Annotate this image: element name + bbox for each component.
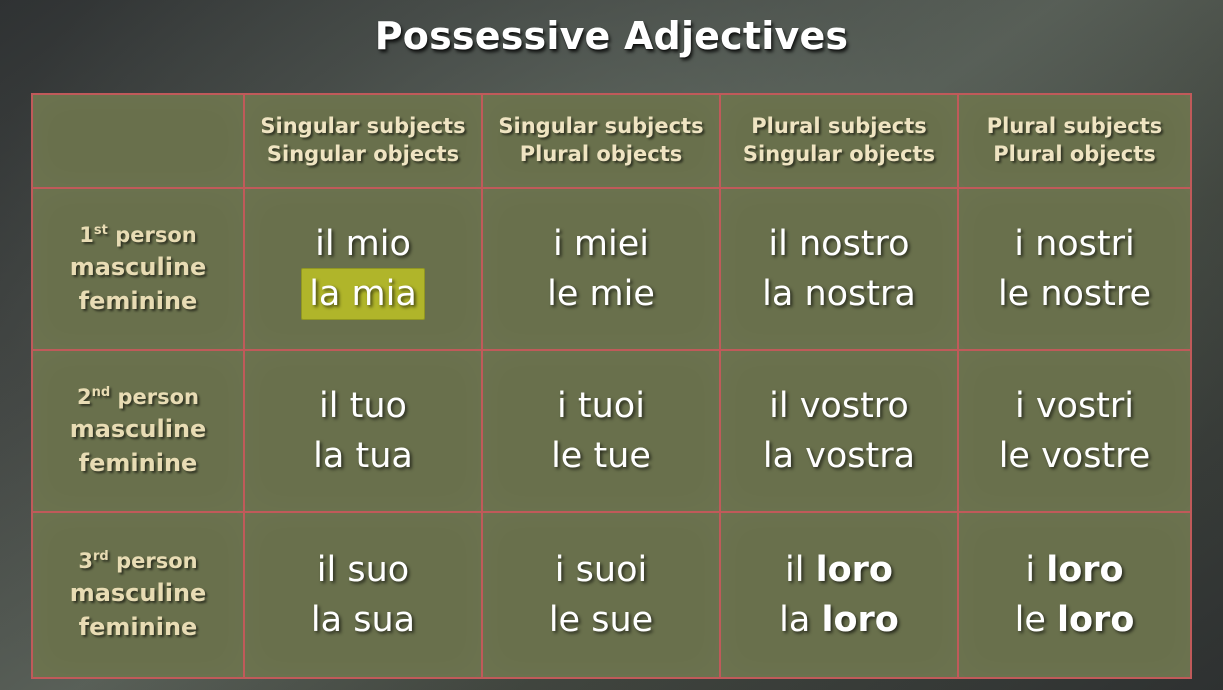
form-feminine-emphasis: loro bbox=[1057, 600, 1134, 640]
form-pair: i tuoile tue bbox=[483, 381, 719, 482]
header-label: Singular subjectsSingular objects bbox=[245, 113, 481, 169]
form-feminine: la loro bbox=[779, 595, 899, 645]
form-cell: il suola sua bbox=[244, 512, 482, 678]
form-masculine: i tuoi bbox=[557, 381, 645, 431]
form-masculine-article: i tuoi bbox=[557, 386, 645, 426]
form-feminine-article: le nostre bbox=[998, 274, 1151, 314]
form-masculine-article: il tuo bbox=[319, 386, 407, 426]
form-masculine: il loro bbox=[785, 545, 893, 595]
form-feminine-article: la bbox=[779, 600, 821, 640]
form-feminine: le tue bbox=[551, 431, 651, 481]
form-feminine: le vostre bbox=[999, 431, 1151, 481]
form-masculine: i miei bbox=[553, 219, 649, 269]
table-row: 3rd personmasculinefeminineil suola suai… bbox=[32, 512, 1191, 678]
table-header-row: Singular subjectsSingular objectsSingula… bbox=[32, 94, 1191, 188]
form-feminine-article: le sue bbox=[549, 600, 653, 640]
header-line-1: Plural subjects bbox=[959, 113, 1190, 141]
header-label: Singular subjectsPlural objects bbox=[483, 113, 719, 169]
person-number: 3 bbox=[78, 549, 93, 573]
gender-label-feminine: feminine bbox=[79, 450, 198, 477]
form-masculine: il suo bbox=[317, 545, 409, 595]
form-masculine-emphasis: loro bbox=[816, 550, 893, 590]
form-feminine-article: la vostra bbox=[763, 436, 915, 476]
form-cell: i tuoile tue bbox=[482, 350, 720, 512]
form-feminine: la vostra bbox=[763, 431, 915, 481]
form-cell: i nostrile nostre bbox=[958, 188, 1191, 350]
row-label-cell-3: 3rd personmasculinefeminine bbox=[32, 512, 244, 678]
form-masculine-article: il mio bbox=[315, 224, 411, 264]
row-label-cell-1: 1st personmasculinefeminine bbox=[32, 188, 244, 350]
person-label: 2nd person bbox=[77, 386, 199, 409]
form-pair: il miola mia bbox=[245, 219, 481, 320]
header-line-1: Singular subjects bbox=[483, 113, 719, 141]
form-cell: i vostrile vostre bbox=[958, 350, 1191, 512]
form-cell: il vostrola vostra bbox=[720, 350, 958, 512]
slide-canvas: Possessive Adjectives Singular subjectsS… bbox=[0, 0, 1223, 690]
gender-label-feminine: feminine bbox=[79, 288, 198, 315]
row-label-cell-2: 2nd personmasculinefeminine bbox=[32, 350, 244, 512]
header-label: Plural subjectsSingular objects bbox=[721, 113, 957, 169]
form-masculine-article: il suo bbox=[317, 550, 409, 590]
header-cell-2: Singular subjectsPlural objects bbox=[482, 94, 720, 188]
form-feminine-highlighted: la mia bbox=[302, 269, 424, 319]
form-pair: i lorole loro bbox=[959, 545, 1190, 646]
gender-label-masculine: masculine bbox=[70, 580, 207, 607]
form-masculine-article: i nostri bbox=[1014, 224, 1135, 264]
form-masculine: il vostro bbox=[769, 381, 909, 431]
form-cell: il tuola tua bbox=[244, 350, 482, 512]
form-pair: i vostrile vostre bbox=[959, 381, 1190, 482]
form-pair: il vostrola vostra bbox=[721, 381, 957, 482]
row-label-stack: 1st personmasculinefeminine bbox=[33, 224, 243, 315]
form-masculine-article: il nostro bbox=[768, 224, 909, 264]
gender-label-feminine: feminine bbox=[79, 614, 198, 641]
gender-label-masculine: masculine bbox=[70, 254, 207, 281]
form-feminine: le loro bbox=[1015, 595, 1135, 645]
header-line-1: Plural subjects bbox=[721, 113, 957, 141]
person-ordinal-suffix: st bbox=[94, 223, 108, 238]
grammar-table: Singular subjectsSingular objectsSingula… bbox=[31, 93, 1192, 679]
form-masculine-article: i suoi bbox=[555, 550, 647, 590]
form-masculine-article: i bbox=[1025, 550, 1046, 590]
form-masculine-article: il vostro bbox=[769, 386, 909, 426]
form-masculine-article: il bbox=[785, 550, 816, 590]
form-cell: il nostrola nostra bbox=[720, 188, 958, 350]
person-word: person bbox=[115, 223, 197, 247]
form-feminine: la sua bbox=[311, 595, 415, 645]
header-line-2: Singular objects bbox=[721, 141, 957, 169]
form-cell: il lorola loro bbox=[720, 512, 958, 678]
header-cell-corner bbox=[32, 94, 244, 188]
form-masculine: i nostri bbox=[1014, 219, 1135, 269]
gender-label-masculine: masculine bbox=[70, 416, 207, 443]
form-pair: il suola sua bbox=[245, 545, 481, 646]
person-label: 3rd person bbox=[78, 550, 197, 573]
form-feminine-article: la mia bbox=[309, 274, 417, 314]
header-cell-4: Plural subjectsPlural objects bbox=[958, 94, 1191, 188]
form-pair: il nostrola nostra bbox=[721, 219, 957, 320]
form-feminine-article: la sua bbox=[311, 600, 415, 640]
header-label: Plural subjectsPlural objects bbox=[959, 113, 1190, 169]
header-cell-3: Plural subjectsSingular objects bbox=[720, 94, 958, 188]
form-feminine-emphasis: loro bbox=[821, 600, 898, 640]
person-word: person bbox=[118, 385, 200, 409]
form-feminine-article: le tue bbox=[551, 436, 651, 476]
header-line-2: Singular objects bbox=[245, 141, 481, 169]
possessive-adjectives-table: Singular subjectsSingular objectsSingula… bbox=[31, 93, 1190, 665]
form-cell: i lorole loro bbox=[958, 512, 1191, 678]
form-cell: il miola mia bbox=[244, 188, 482, 350]
person-label: 1st person bbox=[79, 224, 196, 247]
form-feminine: le sue bbox=[549, 595, 653, 645]
header-line-2: Plural objects bbox=[483, 141, 719, 169]
form-feminine: le mie bbox=[547, 269, 655, 319]
form-pair: i suoile sue bbox=[483, 545, 719, 646]
person-ordinal-suffix: nd bbox=[92, 385, 111, 400]
header-line-2: Plural objects bbox=[959, 141, 1190, 169]
table-row: 1st personmasculinefeminineil miola miai… bbox=[32, 188, 1191, 350]
form-masculine: il nostro bbox=[768, 219, 909, 269]
form-feminine: le nostre bbox=[998, 269, 1151, 319]
form-masculine: i suoi bbox=[555, 545, 647, 595]
person-number: 1 bbox=[79, 223, 94, 247]
form-masculine-article: i miei bbox=[553, 224, 649, 264]
row-label-stack: 2nd personmasculinefeminine bbox=[33, 386, 243, 477]
form-masculine: i loro bbox=[1025, 545, 1123, 595]
form-pair: il tuola tua bbox=[245, 381, 481, 482]
form-feminine-article: le mie bbox=[547, 274, 655, 314]
form-masculine-article: i vostri bbox=[1015, 386, 1134, 426]
form-pair: i mieile mie bbox=[483, 219, 719, 320]
form-feminine-article: le bbox=[1015, 600, 1057, 640]
form-feminine: la tua bbox=[313, 431, 413, 481]
form-masculine: i vostri bbox=[1015, 381, 1134, 431]
person-word: person bbox=[116, 549, 198, 573]
header-cell-1: Singular subjectsSingular objects bbox=[244, 94, 482, 188]
page-title: Possessive Adjectives bbox=[0, 14, 1223, 58]
person-ordinal-suffix: rd bbox=[93, 549, 109, 564]
form-masculine: il tuo bbox=[319, 381, 407, 431]
form-masculine-emphasis: loro bbox=[1046, 550, 1123, 590]
form-feminine-article: le vostre bbox=[999, 436, 1151, 476]
person-number: 2 bbox=[77, 385, 92, 409]
table-body: Singular subjectsSingular objectsSingula… bbox=[32, 94, 1191, 678]
form-cell: i mieile mie bbox=[482, 188, 720, 350]
form-pair: i nostrile nostre bbox=[959, 219, 1190, 320]
form-pair: il lorola loro bbox=[721, 545, 957, 646]
form-feminine-article: la nostra bbox=[762, 274, 916, 314]
form-feminine-article: la tua bbox=[313, 436, 413, 476]
header-line-1: Singular subjects bbox=[245, 113, 481, 141]
form-feminine: la nostra bbox=[762, 269, 916, 319]
row-label-stack: 3rd personmasculinefeminine bbox=[33, 550, 243, 641]
form-cell: i suoile sue bbox=[482, 512, 720, 678]
table-row: 2nd personmasculinefeminineil tuola tuai… bbox=[32, 350, 1191, 512]
form-masculine: il mio bbox=[315, 219, 411, 269]
